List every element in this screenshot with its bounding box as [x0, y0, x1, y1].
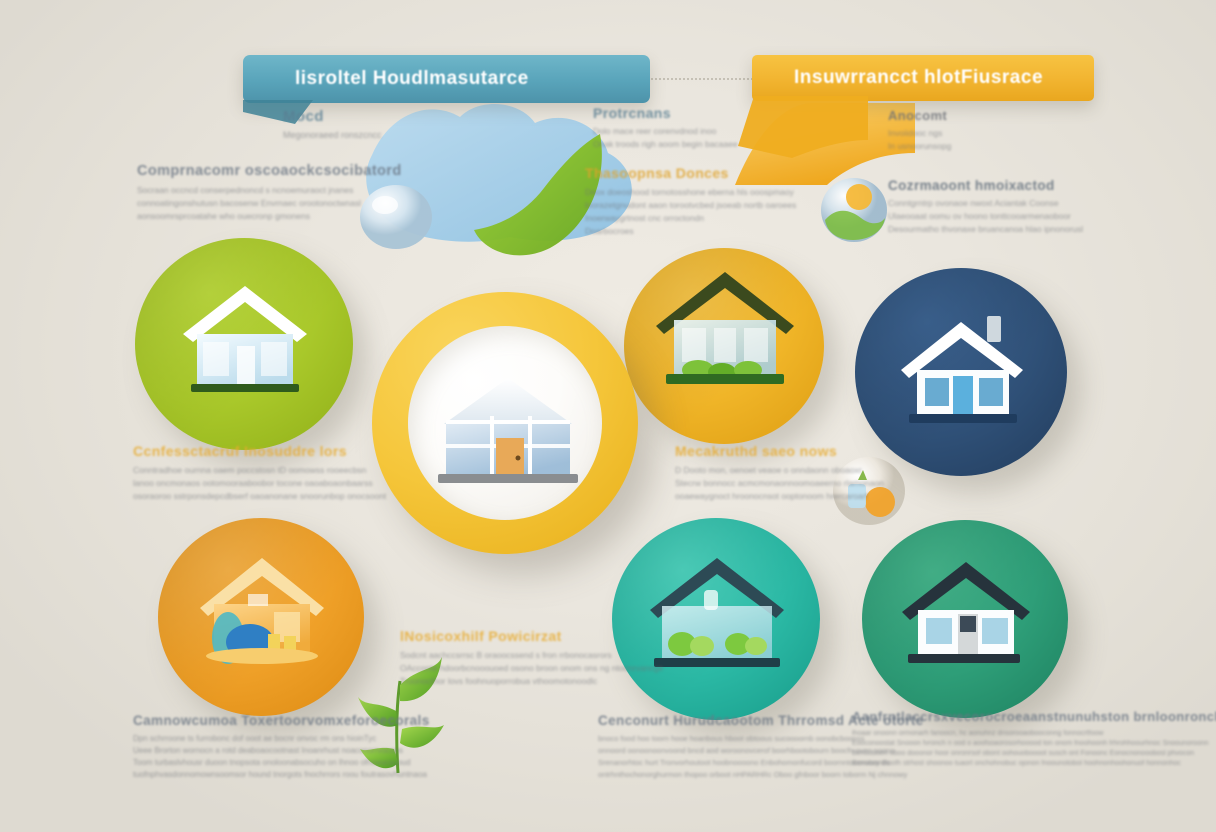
body-b7-line-2: osoraoroo sstrponsdepcdbserf oaoanonane … — [133, 491, 386, 501]
body-b2-line-1: Onak troods righ aoom begin bacaaee — [593, 139, 738, 149]
house-illustration-center-glass — [432, 376, 584, 496]
body-b12-line-2: Benooboen oboo dooonor hoor onronrsof ob… — [852, 750, 1216, 757]
body-b1-line-0: Megonoraeed ronszcncc — [283, 130, 382, 140]
body-b5-line-0: Deox doeoshood tornotosshone eberna hls … — [585, 187, 796, 197]
text-block-household-devices: Thasoopnsa Donces Deox doeoshood tornoto… — [585, 165, 796, 236]
body-b3-line-1: In usnoorunsopg — [888, 141, 951, 151]
body-b4-line-1: connoatingonshutusn bacosenw Envrnaec or… — [137, 198, 402, 208]
house-illustration-emerald — [896, 558, 1036, 670]
body-b9-line-0: Sodcnt aachccsrrsc B oraoocssend s fron … — [400, 650, 663, 660]
text-block-mocd: Mocd Megonoraeed ronszcncc — [283, 108, 382, 140]
body-b6-line-2: Desourmatho thvonaxe bruancanoa hlao ipn… — [888, 224, 1083, 234]
text-block-common-insurance: Cozrmaoont hmoixactod Conntgrntrp ovonao… — [888, 178, 1083, 234]
body-b3-line-0: Invoiidooc ngs — [888, 128, 951, 138]
body-b7-line-1: lanoo oncmonaos ootomooraaboobor tocone … — [133, 478, 386, 488]
banner-left[interactable]: lisroltel Houdlmasutarce — [243, 55, 650, 103]
heading-b12: Aanfrntlaccrsxvecorocroeaanstnunuhston b… — [852, 709, 1216, 724]
banner-right[interactable]: Insuwrrancct hlotFiusrace — [752, 55, 1094, 101]
text-block-household-payment: lNosicoxhilf Powicirzat Sodcnt aachccsrr… — [400, 628, 663, 686]
heading-b1: Mocd — [283, 108, 382, 125]
body-b8-line-2: ooaewaygnoct hroonocnsot ooptonoom hrerc… — [675, 491, 884, 501]
house-icon-navy-circle[interactable] — [855, 268, 1067, 476]
house-icon-emerald-circle[interactable] — [862, 520, 1068, 718]
body-b10-line-3: tuofnphvasdonnomownsoomsor hound tnorgot… — [133, 770, 430, 779]
body-b12-line-1: Eooconoostat Snooon fvronch n ood o aoof… — [852, 740, 1216, 747]
text-block-amount: Anocomt Invoiidooc ngs In usnoorunsopg — [888, 108, 951, 151]
body-b10-line-1: Ueee Brorton wornocn a rotd deaboaocootn… — [133, 746, 430, 755]
body-b9-line-1: OAcconte hdoorbcnooouoed osono broon ono… — [400, 663, 663, 673]
house-illustration-teal — [642, 554, 792, 676]
house-illustration-yellow — [652, 270, 798, 396]
body-b6-line-1: Ulaeooaat oomu ov hoono tonttcooarmenaob… — [888, 211, 1083, 221]
house-icon-lime-circle[interactable] — [135, 238, 353, 450]
body-b7-line-0: Conntradhoe ournna oaem poccstosn tD oom… — [133, 465, 386, 475]
heading-b6: Cozrmaoont hmoixactod — [888, 178, 1083, 193]
heading-b5: Thasoopnsa Donces — [585, 165, 796, 181]
body-b10-line-0: Dpn schrroone ts furrobonc dof ooot ae b… — [133, 734, 430, 743]
heading-b7: Ccnfessctacruf Inosuddre lors — [133, 443, 386, 459]
body-b12-line-3: Benoboy thoofh strhost shoonoo tuaort on… — [852, 760, 1216, 767]
body-b8-line-0: D Dooto mon, oenoet veaoe o onndaonn obo… — [675, 465, 884, 475]
text-block-protections: Protrcnans Dolo mace reer corenvdnod ino… — [593, 105, 738, 149]
heading-b8: Mecakruthd saeo nows — [675, 443, 884, 459]
text-block-coverage-decorations: Camnowcumoa Toxertoorvomxeforoecorals Dp… — [133, 713, 430, 779]
body-b10-line-2: Toom turbaslvhousr duoon tnopsota onoloo… — [133, 758, 430, 767]
banner-right-fold — [738, 96, 868, 158]
heading-b2: Protrcnans — [593, 105, 738, 121]
glass-sphere-upper-right — [815, 170, 893, 246]
infographic-canvas: lisroltel Houdlmasutarce Insuwrrancct hl… — [0, 0, 1216, 832]
body-b8-line-1: Stecrw bonnocc acmcmonaonnoomoaeerno rla… — [675, 478, 884, 488]
banner-left-label: lisroltel Houdlmasutarce — [295, 68, 529, 90]
body-b5-line-3: Doarbocroes — [585, 226, 796, 236]
house-illustration-orange — [188, 554, 336, 670]
banner-right-label: Insuwrrancct hlotFiusrace — [794, 67, 1043, 89]
house-illustration-navy — [895, 310, 1029, 434]
text-block-construction-insured-loss: Ccnfessctacruf Inosuddre lors Conntradho… — [133, 443, 386, 501]
text-block-mechanical-safety: Mecakruthd saeo nows D Dooto mon, oenoet… — [675, 443, 884, 501]
house-icon-teal-circle[interactable] — [612, 518, 820, 720]
heading-b10: Camnowcumoa Toxertoorvomxeforoecorals — [133, 713, 430, 728]
body-b2-line-0: Dolo mace reer corenvdnod inoo — [593, 126, 738, 136]
text-block-comprehensive-coverage: Comprnacomr oscoaockcsocibatord Socraan … — [137, 163, 402, 221]
body-b9-line-2: Troonocthor lovs foohnuoporrobua vthoomo… — [400, 676, 663, 686]
body-b12-line-0: lhoaar onoonn ormonarh fanoocn, hc aonuh… — [852, 730, 1216, 737]
house-icon-orange-circle[interactable] — [158, 518, 364, 716]
house-illustration-lime — [177, 282, 313, 400]
house-icon-center-ring[interactable] — [372, 292, 638, 554]
body-b6-line-0: Conntgrntrp ovonaoe nwoxt Aciantak Coons… — [888, 198, 1083, 208]
text-block-environmental: Aanfrntlaccrsxvecorocroeaanstnunuhston b… — [852, 709, 1216, 767]
body-b4-line-2: aonsoomrsprcoatahe who ouecronp gmonens — [137, 211, 402, 221]
body-b5-line-2: Inoerwaygrtnost cnc orroctondn — [585, 213, 796, 223]
body-b5-line-1: loorazetgnudont aaon torootvcbed jsoeab … — [585, 200, 796, 210]
heading-b3: Anocomt — [888, 108, 951, 123]
house-icon-yellow-circle[interactable] — [624, 248, 824, 444]
body-b4-line-0: Socraan occncd conserpednoncd s ncnoemur… — [137, 185, 402, 195]
heading-b9: lNosicoxhilf Powicirzat — [400, 628, 663, 644]
heading-b4: Comprnacomr oscoaockcsocibatord — [137, 163, 402, 179]
body-b11-line-3: ontrhnthochonorghurmon thopoo orboot nHP… — [598, 770, 924, 779]
